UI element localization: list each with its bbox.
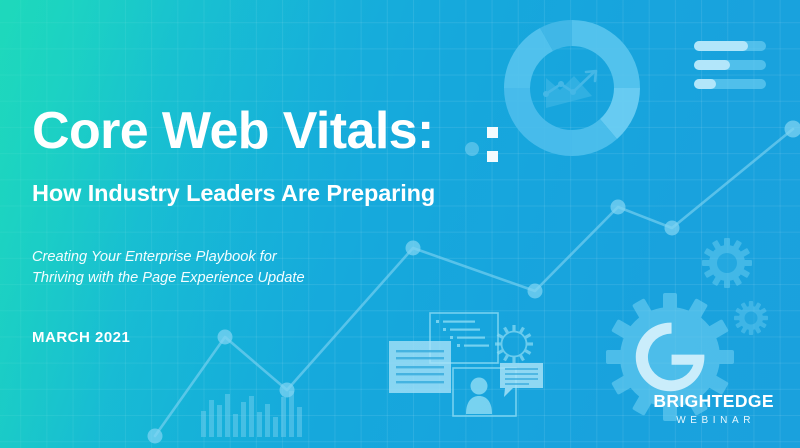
horizontal-bar-chart-graphic [694, 41, 766, 89]
speech-bubble-icon [500, 363, 543, 397]
presentation-date: MARCH 2021 [32, 329, 532, 346]
logo-kicker-text: WEBINAR [653, 416, 774, 426]
document-card-icon [389, 341, 451, 393]
page-tagline: Creating Your Enterprise Playbook for Th… [32, 247, 532, 288]
logo-brand-text: BRIGHTEDGE [653, 393, 774, 411]
column-chart-graphic [201, 391, 302, 437]
trend-up-icon [543, 71, 596, 108]
page-title: Core Web Vitals: [32, 104, 532, 159]
gear-icon [734, 301, 768, 335]
tagline-line-1: Creating Your Enterprise Playbook for [32, 247, 532, 268]
gear-icon [702, 238, 752, 288]
tagline-line-2: Thriving with the Page Experience Update [32, 268, 532, 289]
slide-text-block: Core Web Vitals: How Industry Leaders Ar… [32, 104, 532, 346]
title-slide: Core Web Vitals: How Industry Leaders Ar… [0, 0, 800, 448]
brightedge-logo: BRIGHTEDGE WEBINAR [653, 393, 774, 427]
page-subtitle: How Industry Leaders Are Preparing [32, 180, 532, 207]
